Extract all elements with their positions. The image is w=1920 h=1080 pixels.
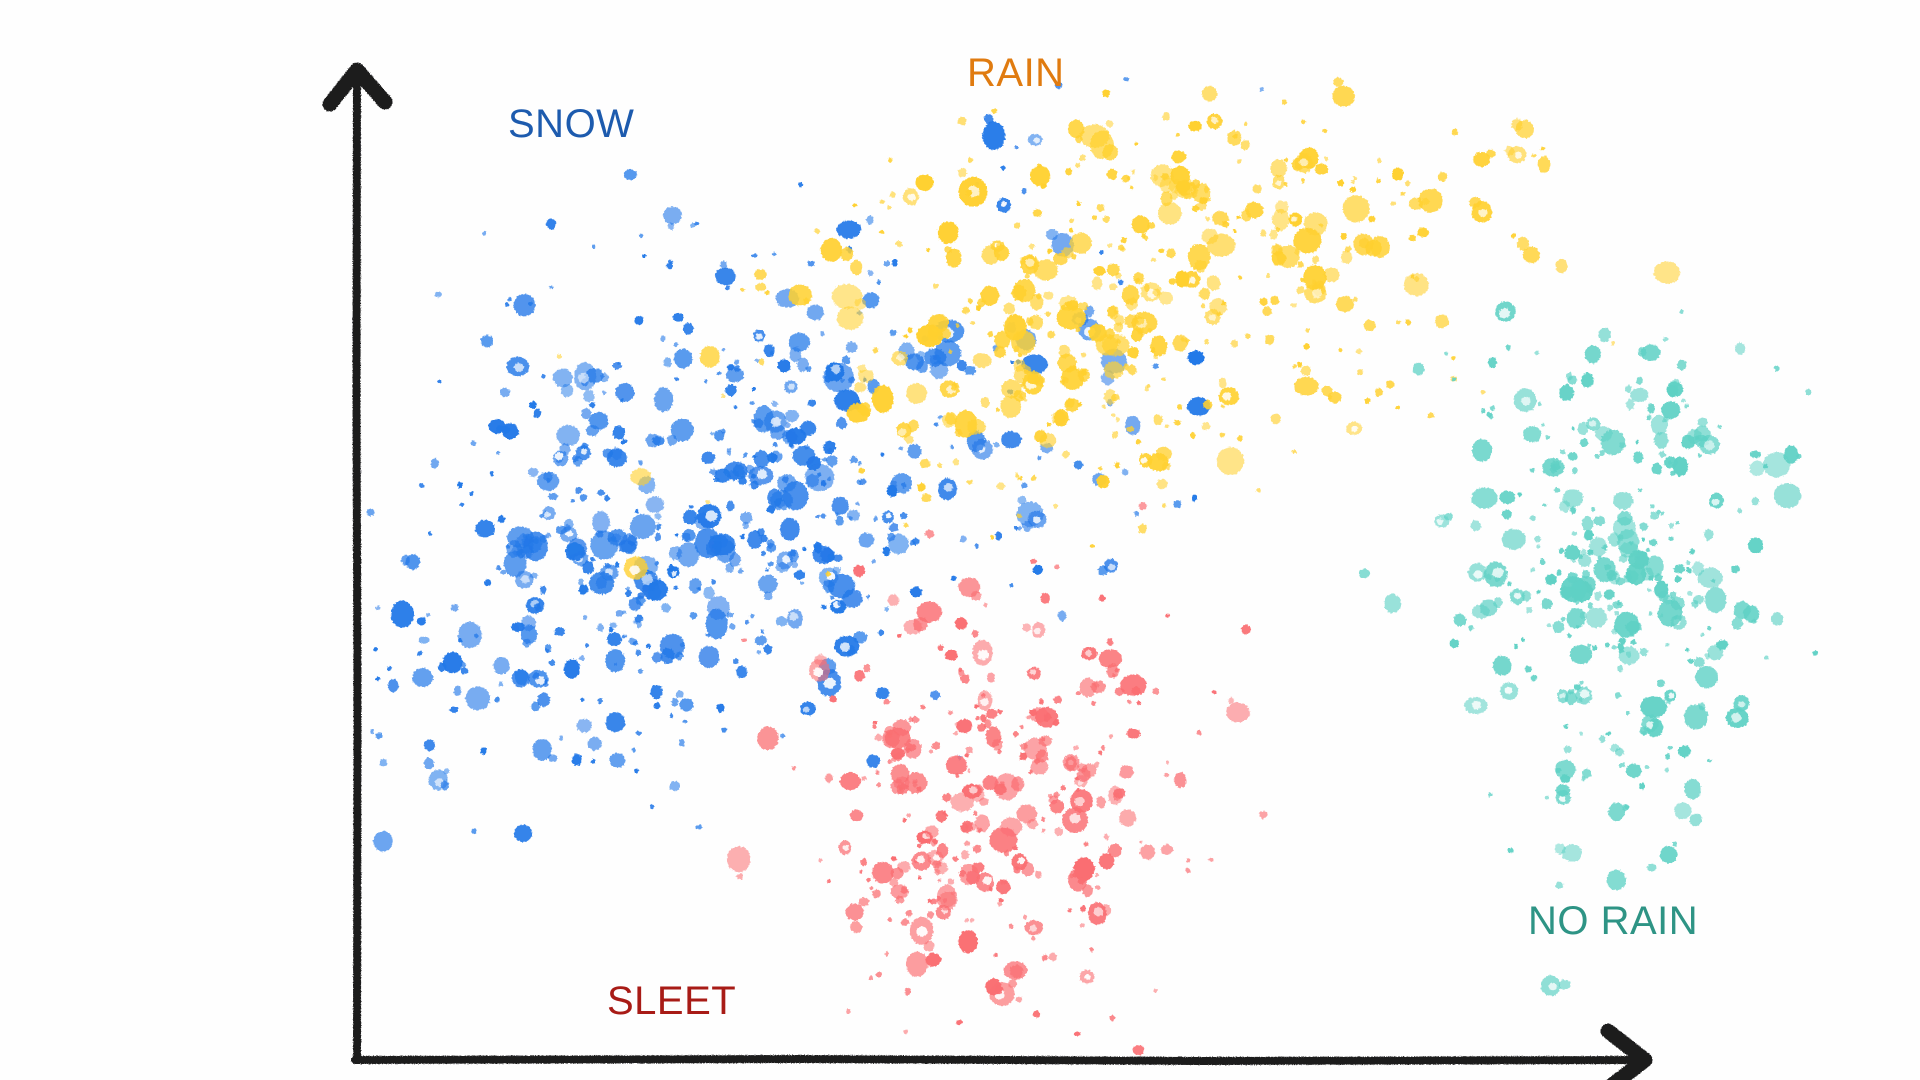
scatter-point [1102,405,1106,409]
scatter-point [706,500,710,504]
scatter-point-highlight [757,469,768,479]
scatter-point [536,604,541,611]
scatter-point [1732,618,1743,630]
scatter-point [632,748,636,753]
scatter-point [426,613,430,617]
scatter-point [1345,246,1352,252]
scatter-point [769,351,774,355]
scatter-point [884,261,890,267]
scatter-point [1078,877,1085,885]
scatter-point [972,630,979,638]
scatter-point [646,497,664,513]
scatter-point [654,513,661,519]
scatter-point [557,354,563,358]
scatter-point [1013,731,1019,737]
scatter-point [908,419,918,431]
scatter-point [1076,691,1081,695]
scatter-point [1598,328,1610,343]
scatter-point [636,622,642,628]
scatter-point [1191,179,1200,188]
scatter-point [1031,476,1037,481]
scatter-point [1556,259,1568,273]
scatter-point [375,733,382,740]
scatter-point [1375,388,1383,397]
scatter-point [967,769,971,773]
scatter-point [616,610,624,617]
scatter-point [1001,165,1006,170]
scatter-point [1123,77,1129,82]
scatter-point [1069,228,1073,233]
scatter-point [1665,754,1670,760]
scatter-point [1488,792,1493,797]
scatter-point [846,342,858,353]
scatter-point [1797,454,1802,459]
scatter-point [1259,298,1267,306]
scatter-point [1244,122,1248,126]
scatter-point [1125,416,1140,436]
scatter-point [1109,734,1113,738]
scatter-point [1260,229,1266,236]
scatter-point [391,601,414,628]
scatter-point [761,630,765,634]
scatter-point [1444,352,1448,356]
scatter-point [772,252,776,256]
scatter-point [1517,237,1529,251]
scatter-point [858,402,871,416]
scatter-point [751,419,755,423]
scatter-point [636,731,642,736]
scatter-point [1390,201,1395,206]
scatter-point [1110,1015,1115,1021]
scatter-point [1704,529,1713,540]
scatter-point [792,446,815,466]
scatter-point [981,397,990,408]
scatter-point [484,580,491,586]
scatter-point [903,818,906,823]
scatter-point [850,921,862,933]
scatter-point [646,434,661,448]
scatter-point [794,570,806,579]
scatter-point [1069,873,1074,878]
scatter-point [889,523,898,532]
scatter-point [1022,623,1031,631]
scatter-point [994,346,1005,358]
scatter-point [1409,197,1423,210]
scatter-point [1226,702,1250,722]
scatter-point [1042,955,1048,961]
scatter-point [1567,608,1586,629]
scatter-point [842,356,851,364]
scatter-point [1630,631,1634,635]
scatter-point [1452,129,1458,135]
scatter-point [911,716,919,723]
scatter-point [610,622,616,628]
scatter-point [907,444,921,458]
scatter-point [1245,202,1263,219]
scatter-point [1114,322,1124,332]
scatter-point [1481,390,1486,394]
scatter-point [655,533,661,541]
scatter-point [1070,233,1092,254]
scatter-point [679,698,693,711]
scatter-point [1669,523,1674,529]
scatter-point [1341,251,1352,264]
scatter-point [946,755,967,774]
scatter-point [1039,735,1052,746]
scatter-point [917,844,922,848]
scatter-point [727,451,732,456]
scatter-point [1560,616,1565,621]
scatter-point [891,780,906,795]
scatter-point [1070,218,1074,223]
scatter-point [1674,802,1691,819]
scatter-point [1697,454,1701,458]
scatter-point [742,638,747,642]
scatter-point [985,979,1002,996]
scatter-point [1030,294,1043,310]
scatter-point [1592,645,1597,651]
scatter-point [1681,435,1694,449]
scatter-point [1646,548,1649,552]
scatter-point [722,727,727,732]
scatter-point [792,561,798,568]
scatter-point [575,487,583,494]
scatter-point [1472,605,1490,619]
scatter-point [1116,339,1121,344]
scatter-point [572,754,582,766]
scatter-point [654,387,673,411]
scatter-point [1176,133,1180,137]
scatter-point [1192,495,1197,502]
scatter-point [715,268,736,286]
scatter-point-highlight [843,845,850,851]
scatter-point [1559,385,1574,402]
scatter-point [982,121,1005,150]
scatter-point [1506,345,1511,350]
scatter-point [1607,570,1618,581]
scatter-point [1636,440,1640,444]
scatter-point [1404,273,1429,296]
scatter-point [761,551,766,556]
scatter-point [419,483,424,488]
scatter-point [1649,539,1657,546]
scatter-point [1067,367,1071,372]
scatter-point [1161,844,1173,855]
scatter-point [1687,591,1693,596]
scatter-point [948,711,952,716]
scatter-point [814,654,826,665]
scatter-point [1298,261,1304,267]
scatter-point [1148,453,1169,472]
scatter-point [1098,466,1102,470]
scatter-point [1034,430,1047,443]
scatter-point [1594,516,1606,525]
scatter-point [1009,924,1014,929]
scatter-point [850,456,858,463]
scatter-point [1236,215,1240,219]
scatter-point [1663,337,1669,342]
scatter-point [937,843,949,858]
scatter-point [1104,834,1109,840]
scatter-point [1029,243,1035,250]
scatter-point [754,269,767,280]
scatter-point [1205,217,1210,222]
scatter-point [1097,204,1105,212]
scatter-point [1409,235,1416,242]
scatter-point [1030,707,1048,723]
scatter-point [873,721,878,725]
scatter-point [1108,843,1122,857]
scatter-point-highlight [1108,564,1115,571]
scatter-point [840,772,861,790]
scatter-point [1545,795,1549,799]
scatter-point [785,410,799,422]
cluster-label-snow: SNOW [508,104,634,144]
scatter-point [1642,730,1647,735]
scatter-point [1570,507,1576,514]
scatter-point [1102,90,1110,98]
scatter-point [624,169,637,179]
scatter-point-highlight [1492,568,1503,578]
scatter-point [1028,315,1043,329]
scatter-point [814,228,820,233]
scatter-point [1271,414,1281,425]
scatter-point [450,707,459,713]
scatter-point [1559,501,1570,513]
scatter-point [970,321,975,325]
scatter-point [846,1009,851,1014]
scatter-point [756,651,761,655]
scatter-point [387,666,392,671]
scatter-point [875,770,879,775]
scatter-point [921,705,926,710]
scatter-point [588,737,602,750]
scatter-point [1639,783,1645,790]
scatter-point [955,617,967,629]
scatter-point [955,721,960,726]
scatter-point [646,644,651,648]
scatter-cluster-sleet [727,502,1267,1055]
scatter-point [915,174,934,190]
scatter-point [1666,700,1670,704]
scatter-point [656,523,661,530]
scatter-point [683,510,698,525]
scatter-point [933,283,939,289]
scatter-point [1058,611,1066,622]
scatter-point [996,408,1000,412]
scatter-point [768,561,774,566]
scatter-point [821,514,826,519]
scatter-point [1664,456,1678,468]
scatter-point [1122,469,1129,476]
scatter-point [1015,996,1022,1002]
scatter-point [1094,762,1099,768]
scatter-point [1014,222,1020,228]
scatter-point [1117,280,1123,285]
scatter-point [1019,752,1027,760]
scatter-point [565,542,584,561]
scatter-point [1237,159,1241,164]
scatter-point [1438,172,1448,181]
scatter-point [1312,280,1316,284]
scatter-point [1173,500,1181,508]
scatter-point [1525,666,1532,673]
scatter-point [630,468,651,485]
scatter-point [675,652,683,661]
scatter-point [752,254,758,258]
scatter-point [806,474,819,487]
scatter-point [1127,426,1135,432]
scatter-point [480,748,487,755]
scatter-point [507,297,511,301]
scatter-point [498,515,506,523]
scatter-point [1066,398,1075,408]
scatter-point [545,533,551,538]
scatter-point-highlight [1085,650,1092,656]
scatter-point [683,323,693,335]
scatter-point [635,595,645,605]
scatter-point [1563,725,1568,729]
scatter-point [917,360,928,373]
scatter-point [600,373,609,382]
scatter-point [652,652,662,663]
scatter-point [712,544,717,550]
scatter-point [1281,100,1286,105]
scatter-point [1554,487,1560,492]
scatter-point [987,673,995,683]
scatter-point-highlight [978,650,989,660]
scatter-point [1035,376,1045,386]
scatter-point [991,535,995,539]
scatter-point [906,383,927,404]
scatter-point [493,657,509,675]
scatter-point [891,756,896,762]
scatter-point [892,259,898,267]
scatter-point-highlight [1025,259,1034,267]
scatter-point [926,248,929,253]
scatter-point [1106,120,1114,127]
scatter-point [1611,341,1615,345]
scatter-point [1125,314,1138,327]
scatter-point [1594,591,1601,600]
scatter-point [951,576,956,581]
scatter-point [1556,784,1570,796]
scatter-point [424,739,435,751]
scatter-point [1617,534,1623,541]
scatter-point-highlight [1085,974,1091,980]
scatter-point-highlight [771,417,781,426]
scatter-point [954,731,959,735]
scatter-point [1167,248,1176,258]
scatter-point [1001,380,1021,398]
scatter-point [994,953,998,957]
scatter-point-highlight [521,575,530,583]
scatter-point [1111,413,1115,417]
scatter-point [1106,664,1118,678]
scatter-point [905,910,912,916]
scatter-point [460,667,468,674]
scatter-point [1074,857,1095,881]
scatter-point [1542,458,1564,477]
scatter-point [836,418,847,429]
scatter-point [1111,393,1120,401]
scatter-point [578,579,583,586]
scatter-point [1054,564,1059,569]
scatter-point-highlight [944,483,953,491]
scatter-point [1368,216,1375,223]
scatter-point [780,733,785,738]
scatter-point [582,561,594,574]
scatter-point [1612,645,1617,649]
scatter-point [747,530,762,549]
scatter-point [512,669,530,687]
scatter-point [837,221,862,239]
scatter-point [1162,113,1170,121]
scatter-point-highlight [1312,289,1323,299]
scatter-point [826,455,837,466]
scatter-point [1684,404,1689,408]
scatter-point [1075,135,1082,143]
scatter-point-highlight [969,787,977,794]
scatter-point-highlight [1668,693,1674,699]
scatter-point [1139,502,1147,510]
scatter-point [975,544,980,548]
scatter-point [883,699,890,705]
scatter-point [696,825,702,830]
scatter-point [622,634,627,638]
scatter-point [548,754,558,762]
scatter-point [586,425,599,436]
scatter-point-highlight [1731,713,1741,722]
scatter-point [580,698,584,702]
scatter-point [977,723,986,731]
scatter-point [554,627,565,636]
scatter-point [1805,389,1811,396]
scatter-point [1160,177,1175,193]
scatter-point [1049,953,1057,961]
scatter-point [1140,845,1156,860]
scatter-point [926,911,934,918]
scatter-point [957,360,967,371]
scatter-point [989,827,1017,853]
scatter-point [1162,503,1166,507]
scatter-point [1610,744,1620,752]
scatter-point [888,918,892,922]
scatter-point [1717,425,1722,429]
scatter-point [1622,804,1628,811]
scatter-point [1157,479,1168,489]
scatter-point [900,512,907,519]
scatter-point [1680,309,1684,314]
scatter-point [1684,779,1701,800]
scatter-point [564,659,580,679]
scatter-point [1657,679,1664,687]
scatter-point [1144,387,1148,392]
scatter-point [764,344,775,357]
scatter-point [1053,504,1058,509]
scatter-point [1080,923,1085,928]
scatter-point [1384,594,1401,613]
scatter-point [1092,215,1097,220]
scatter-point [764,592,772,601]
scatter-point [885,606,890,611]
scatter-cluster-rain [557,77,1680,579]
scatter-point [962,307,970,314]
scatter-point [726,368,744,383]
scatter-point [514,294,536,316]
scatter-point [1468,625,1473,631]
scatter-point [528,468,539,477]
